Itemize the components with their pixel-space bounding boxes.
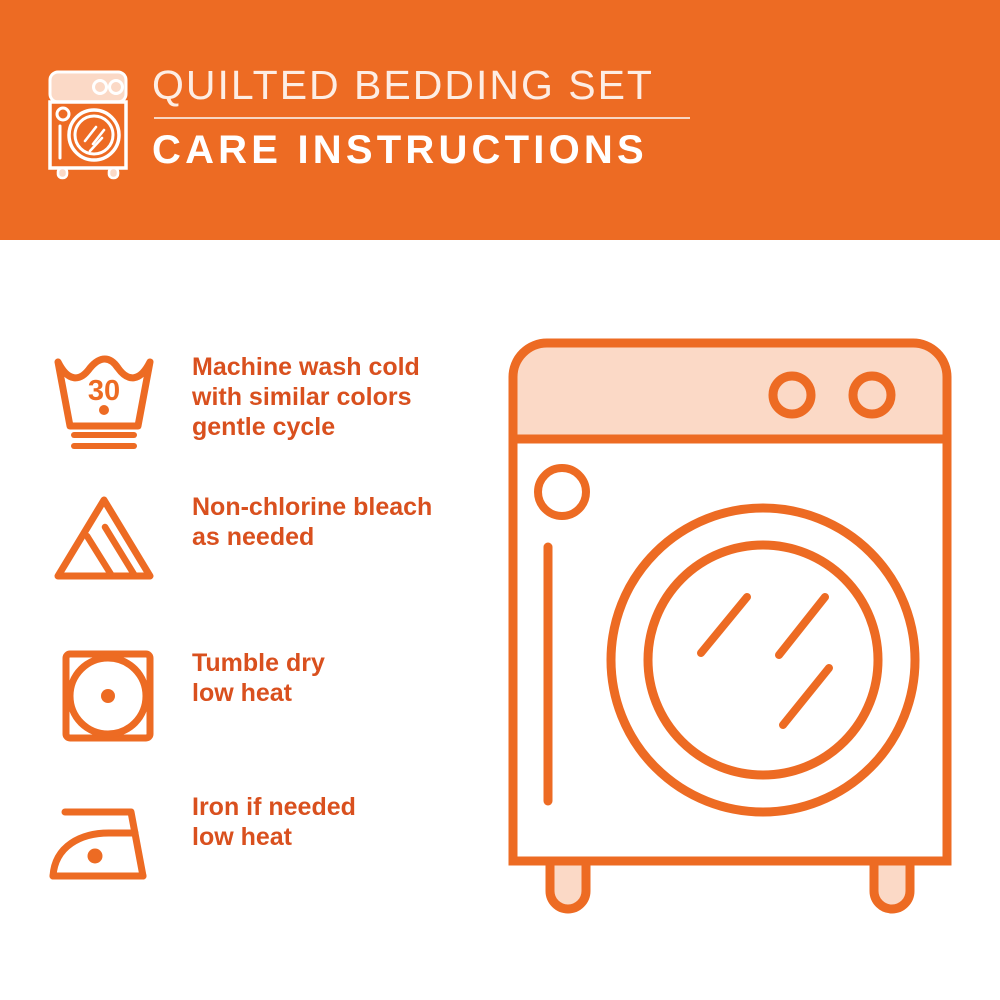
leg-left	[550, 861, 586, 909]
care-row-tumble-dry: Tumble dry low heat	[44, 648, 325, 746]
care-line: as needed	[192, 522, 432, 552]
care-line: Tumble dry	[192, 648, 325, 678]
care-line: low heat	[192, 822, 356, 852]
care-line: with similar colors	[192, 382, 420, 412]
care-line: Non-chlorine bleach	[192, 492, 432, 522]
header-content: QUILTED BEDDING SET CARE INSTRUCTIONS	[42, 62, 690, 180]
header-banner: QUILTED BEDDING SET CARE INSTRUCTIONS	[0, 0, 1000, 240]
care-row-bleach: Non-chlorine bleach as needed	[44, 492, 432, 584]
leg-right	[874, 861, 910, 909]
page-subtitle: CARE INSTRUCTIONS	[152, 128, 690, 172]
title-divider	[154, 117, 690, 119]
care-instructions-page: QUILTED BEDDING SET CARE INSTRUCTIONS 30…	[0, 0, 1000, 1000]
care-text-tumble-dry: Tumble dry low heat	[192, 648, 325, 708]
wash-tub-30-gentle-icon: 30	[44, 352, 164, 456]
iron-low-heat-icon	[44, 792, 164, 888]
non-chlorine-bleach-triangle-icon	[44, 492, 164, 584]
washing-machine-illustration	[495, 335, 965, 925]
care-text-iron: Iron if needed low heat	[192, 792, 356, 852]
tumble-dry-low-heat-icon	[44, 648, 164, 746]
control-panel	[513, 343, 947, 439]
care-row-machine-wash: 30 Machine wash cold with similar colors…	[44, 352, 420, 456]
care-text-bleach: Non-chlorine bleach as needed	[192, 492, 432, 552]
wash-temperature-value: 30	[88, 375, 120, 407]
care-line: Machine wash cold	[192, 352, 420, 382]
header-titles: QUILTED BEDDING SET CARE INSTRUCTIONS	[152, 62, 690, 172]
care-row-iron: Iron if needed low heat	[44, 792, 356, 888]
care-line: low heat	[192, 678, 325, 708]
care-text-machine-wash: Machine wash cold with similar colors ge…	[192, 352, 420, 442]
washing-machine-icon	[42, 68, 134, 180]
care-line: Iron if needed	[192, 792, 356, 822]
care-line: gentle cycle	[192, 412, 420, 442]
page-title: QUILTED BEDDING SET	[152, 62, 690, 108]
